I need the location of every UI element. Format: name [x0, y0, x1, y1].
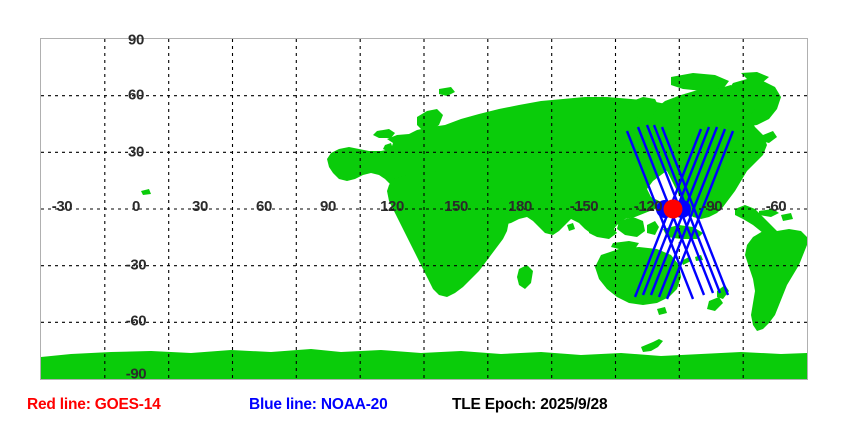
lon-label-60: 60: [256, 199, 272, 214]
map-canvas: [41, 39, 807, 379]
lon-label-0: 0: [132, 199, 140, 214]
lon-label-90: 90: [320, 199, 336, 214]
satellite-track-map-page: 0 30 60 90 120 150 180 -150 -120 -90 -60…: [0, 0, 850, 425]
world-map: [40, 38, 808, 380]
lon-label-m60: -60: [766, 199, 786, 214]
lat-label-30: 30: [128, 145, 144, 160]
lat-label-90: 90: [128, 33, 144, 48]
legend-tle-epoch: TLE Epoch: 2025/9/28: [452, 396, 607, 414]
lon-label-m150: -150: [570, 199, 598, 214]
lon-label-150: 150: [444, 199, 468, 214]
lon-label-m90: -90: [702, 199, 722, 214]
legend-red-line-goes14: Red line: GOES-14: [27, 396, 161, 414]
lon-label-180: 180: [508, 199, 532, 214]
lat-label-m90: -90: [126, 367, 146, 382]
legend: Red line: GOES-14 Blue line: NOAA-20 TLE…: [0, 394, 850, 420]
lat-label-m60: -60: [126, 314, 146, 329]
lon-label-30: 30: [192, 199, 208, 214]
lon-label-m30: -30: [52, 199, 72, 214]
lat-label-60: 60: [128, 88, 144, 103]
lon-label-120: 120: [380, 199, 404, 214]
lon-label-m120: -120: [634, 199, 662, 214]
lat-label-m30: -30: [126, 258, 146, 273]
legend-blue-line-noaa20: Blue line: NOAA-20: [249, 396, 388, 414]
goes14-position-marker: [664, 200, 683, 219]
